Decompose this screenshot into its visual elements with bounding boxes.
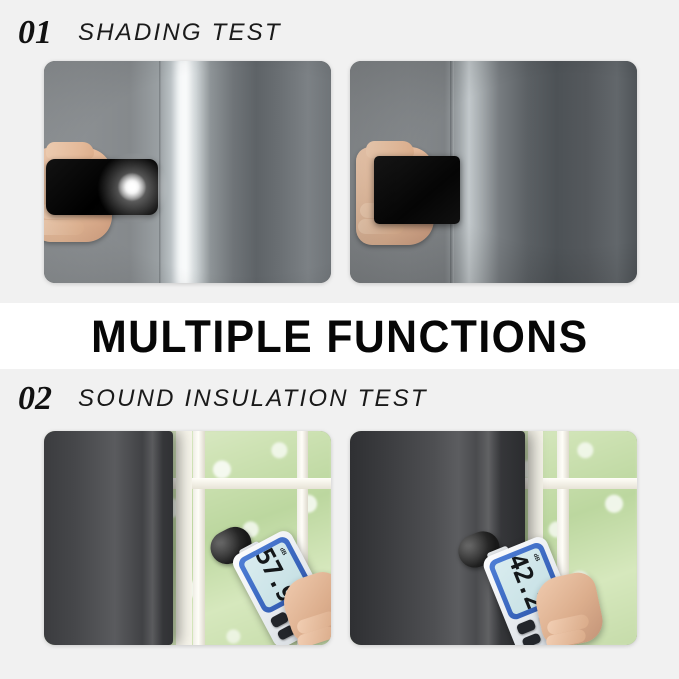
section-01-number: 01 — [18, 16, 52, 50]
banner-text: MULTIPLE FUNCTIONS — [91, 314, 588, 359]
section-01-heading: 01 SHADING TEST — [0, 8, 679, 58]
infographic-page: 01 SHADING TEST MULTIPLE FUNCTIONS — [0, 0, 679, 679]
window-frame — [176, 431, 192, 645]
panel-sound-full-coverage: 42.2 dB Mini Sound Level Meter — [350, 431, 637, 645]
window-film-sheet — [44, 431, 173, 645]
section-02-number: 02 — [18, 382, 52, 416]
meter-button-hold[interactable] — [521, 632, 541, 645]
panel-shading-light-off — [350, 61, 637, 283]
banner-multiple-functions: MULTIPLE FUNCTIONS — [0, 303, 679, 369]
panel-vignette — [44, 61, 331, 283]
section-02-heading: 02 SOUND INSULATION TEST — [0, 374, 679, 424]
window-mullion-vertical — [193, 431, 205, 645]
panel-vignette — [350, 61, 637, 283]
section-02-title: SOUND INSULATION TEST — [78, 385, 428, 413]
panel-shading-light-on — [44, 61, 331, 283]
film-highlight — [142, 431, 163, 645]
sound-level-meter: 42.2 dB Mini Sound Level Meter — [458, 527, 588, 645]
sound-level-meter: 57.9 dB — [222, 523, 331, 643]
section-01-title: SHADING TEST — [78, 19, 282, 47]
panel-sound-partial-coverage: 57.9 dB — [44, 431, 331, 645]
